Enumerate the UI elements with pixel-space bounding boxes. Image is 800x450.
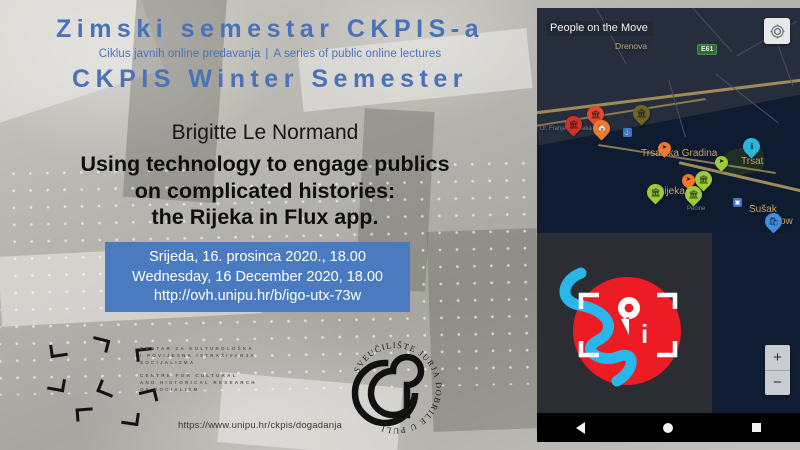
back-icon[interactable] bbox=[576, 422, 585, 434]
bag-icon: 🛍 bbox=[768, 218, 778, 226]
ckpis-en-line-1: CENTRE FOR CULTURAL bbox=[140, 372, 260, 379]
event-info-box: Srijeda, 16. prosinca 2020., 18.00 Wedne… bbox=[105, 242, 410, 312]
museum-icon: 🏛 bbox=[698, 176, 708, 184]
bracket-shape bbox=[49, 343, 68, 358]
zoom-out-button[interactable]: − bbox=[765, 371, 790, 396]
android-navigation-bar[interactable] bbox=[537, 413, 800, 442]
ckpis-en-line-2: AND HISTORICAL RESEARCH bbox=[140, 379, 260, 386]
museum-icon: 🏛 bbox=[650, 189, 660, 197]
bracket-shape bbox=[96, 379, 117, 397]
poster-header: Zimski semestar CKPIS-a Ciklus javnih on… bbox=[0, 14, 540, 94]
talk-title: Using technology to engage publics on co… bbox=[0, 151, 530, 231]
my-location-button[interactable] bbox=[764, 18, 790, 44]
map-label: Trsatska Gradina bbox=[641, 148, 717, 159]
highway-shield: E61 bbox=[697, 44, 717, 55]
cursor-icon: ➤ bbox=[719, 159, 724, 166]
rijeka-in-flux-logo: i bbox=[545, 239, 705, 407]
phone-mockup: People on the Move E61 ⚓ ▣ DrenovaTrsats… bbox=[537, 8, 800, 442]
info-icon: ℹ bbox=[750, 143, 753, 151]
map-zoom-controls[interactable]: + − bbox=[765, 345, 790, 395]
museum-icon: 🏛 bbox=[688, 191, 698, 199]
map-label: Pećine bbox=[687, 206, 705, 212]
museum-icon: 🏛 bbox=[568, 121, 578, 129]
bracket-shape bbox=[47, 377, 66, 393]
header-subtitle-en: A series of public online lectures bbox=[274, 48, 442, 60]
event-date-en: Wednesday, 16 December 2020, 18.00 bbox=[105, 268, 410, 288]
map-lower-strip: + − bbox=[712, 233, 800, 413]
bracket-shape bbox=[91, 336, 111, 353]
map-label: Drenova bbox=[615, 41, 647, 51]
speaker-name: Brigitte Le Normand bbox=[0, 118, 530, 148]
ckpis-en-line-3: OF SOCIALISM bbox=[140, 386, 260, 393]
ckpis-hr-line-3: SOCIJALIZMA bbox=[140, 359, 260, 366]
header-title-en: CKPIS Winter Semester bbox=[0, 64, 540, 94]
header-subtitle: Ciklus javnih online predavanja|A series… bbox=[0, 44, 540, 64]
ckpis-hr-line-1: CENTAR ZA KULTUROLOŠKA bbox=[140, 345, 260, 352]
event-link[interactable]: http://ovh.unipu.hr/b/igo-utx-73w bbox=[105, 287, 410, 307]
recents-icon[interactable] bbox=[752, 423, 761, 432]
footer-url[interactable]: https://www.unipu.hr/ckpis/dogadanja bbox=[0, 420, 520, 431]
app-logo-panel: i bbox=[537, 233, 712, 413]
header-subtitle-hr: Ciklus javnih online predavanja bbox=[99, 48, 261, 60]
ckpis-wordmark: CENTAR ZA KULTUROLOŠKA I POVIJESNA ISTRA… bbox=[140, 345, 260, 393]
map-view[interactable]: People on the Move E61 ⚓ ▣ DrenovaTrsats… bbox=[537, 8, 800, 233]
talk-block: Brigitte Le Normand Using technology to … bbox=[0, 118, 530, 231]
home-icon[interactable] bbox=[663, 423, 673, 433]
ckpis-hr-line-2: I POVIJESNA ISTRAŽIVANJA bbox=[140, 352, 260, 359]
museum-icon: 🏛 bbox=[590, 111, 600, 119]
cursor-icon: ➤ bbox=[662, 145, 667, 152]
map-poi-marker[interactable]: ⚓ bbox=[623, 128, 632, 137]
logo-letter-i: i bbox=[641, 319, 648, 349]
header-title-hr: Zimski semestar CKPIS-a bbox=[0, 14, 540, 44]
zoom-in-button[interactable]: + bbox=[765, 345, 790, 371]
home-icon: 🏠 bbox=[597, 125, 607, 133]
map-poi-marker[interactable]: ▣ bbox=[733, 198, 742, 207]
cursor-icon: ➤ bbox=[686, 177, 691, 184]
event-date-hr: Srijeda, 16. prosinca 2020., 18.00 bbox=[105, 248, 410, 268]
header-subtitle-separator: | bbox=[260, 48, 273, 60]
talk-title-line-2: on complicated histories: bbox=[0, 178, 530, 205]
map-title: People on the Move bbox=[547, 21, 653, 36]
museum-icon: 🏛 bbox=[636, 110, 646, 118]
logo-pin-hole bbox=[625, 304, 634, 313]
talk-title-line-1: Using technology to engage publics bbox=[0, 151, 530, 178]
my-location-icon bbox=[770, 24, 785, 39]
talk-title-line-3: the Rijeka in Flux app. bbox=[0, 204, 530, 231]
